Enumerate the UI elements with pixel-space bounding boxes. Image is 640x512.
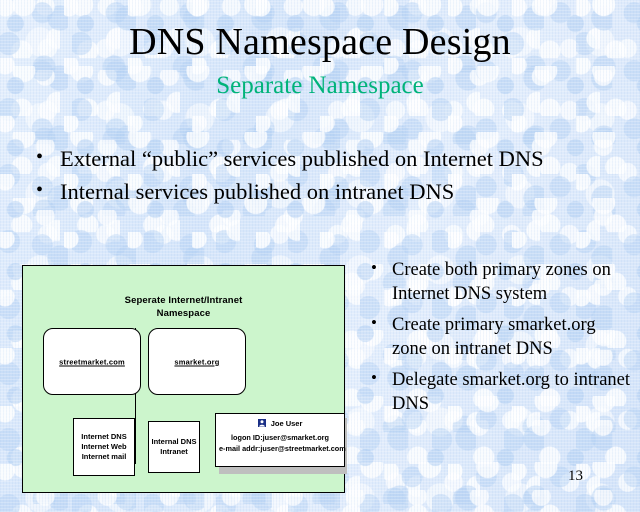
external-zone-box: streetmarket.com <box>43 328 141 395</box>
user-icon <box>258 419 266 427</box>
internal-zone-label: smarket.org <box>149 357 245 366</box>
bullet-marker: • <box>371 311 377 335</box>
diagram-title-line-1: Seperate Internet/Intranet <box>23 294 344 307</box>
namespace-diagram: Seperate Internet/Intranet Namespace str… <box>22 265 345 493</box>
user-card-name-row: Joe User <box>216 419 344 428</box>
bullet-item: • Create primary smarket.org zone on int… <box>368 313 634 361</box>
internal-service-line-2: Intranet <box>149 447 199 457</box>
external-service-line-2: Internet Web <box>74 442 134 452</box>
bullet-marker: • <box>371 256 377 280</box>
bullet-text: External “public” services published on … <box>60 146 544 171</box>
page-title: DNS Namespace Design <box>0 20 640 64</box>
page-subtitle: Separate Namespace <box>0 72 640 100</box>
bullet-marker: • <box>371 366 377 390</box>
diagram-title: Seperate Internet/Intranet Namespace <box>23 294 344 320</box>
bullet-marker: • <box>36 143 43 172</box>
bullet-item: • Internal services published on intrane… <box>28 177 628 206</box>
page-number: 13 <box>568 468 583 485</box>
internal-services-labels: Internal DNS Intranet <box>149 437 199 457</box>
bullet-item: • Delegate smarket.org to intranet DNS <box>368 368 634 416</box>
user-card-logon: logon ID:juser@smarket.org <box>219 433 341 442</box>
external-services-box: Internet DNS Internet Web Internet mail <box>73 418 135 476</box>
internal-service-line-1: Internal DNS <box>149 437 199 447</box>
user-card-email: e-mail addr:juser@streetmarket.com <box>219 444 341 453</box>
bullet-marker: • <box>36 176 43 205</box>
bullet-text: Create both primary zones on Internet DN… <box>392 260 611 304</box>
internal-services-box: Internal DNS Intranet <box>148 421 200 473</box>
bullet-text: Create primary smarket.org zone on intra… <box>392 315 596 359</box>
user-card-name: Joe User <box>271 419 303 428</box>
external-service-line-3: Internet mail <box>74 452 134 462</box>
bullet-item: • External “public” services published o… <box>28 144 628 173</box>
top-bullet-list: • External “public” services published o… <box>28 144 628 210</box>
bullet-text: Internal services published on intranet … <box>60 179 454 204</box>
user-card: Joe User logon ID:juser@smarket.org e-ma… <box>215 413 345 467</box>
right-bullet-list: • Create both primary zones on Internet … <box>368 258 634 423</box>
external-services-labels: Internet DNS Internet Web Internet mail <box>74 432 134 462</box>
external-service-line-1: Internet DNS <box>74 432 134 442</box>
external-zone-label: streetmarket.com <box>44 357 140 366</box>
bullet-text: Delegate smarket.org to intranet DNS <box>392 370 630 414</box>
bullet-item: • Create both primary zones on Internet … <box>368 258 634 306</box>
diagram-title-line-2: Namespace <box>23 307 344 320</box>
internal-zone-box: smarket.org <box>148 328 246 395</box>
